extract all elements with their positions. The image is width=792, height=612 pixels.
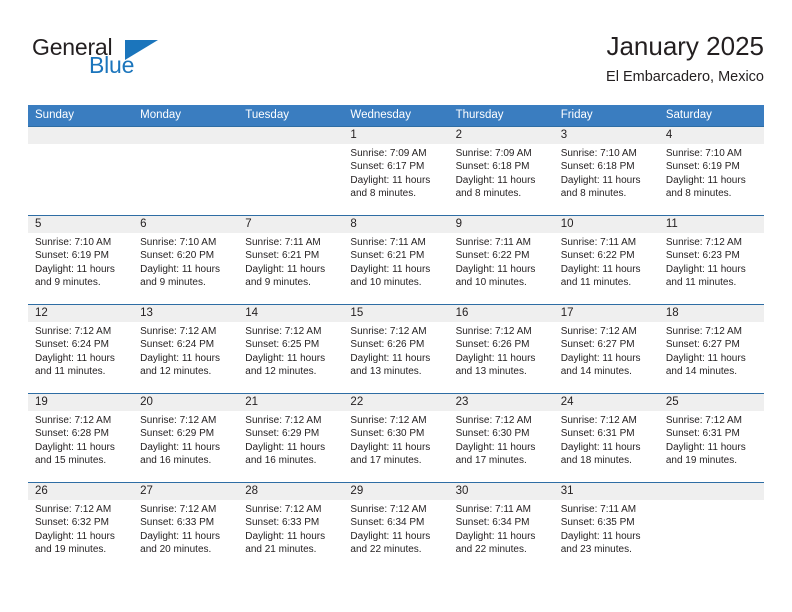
day-daylight-1-text: Daylight: 11 hours	[561, 441, 653, 454]
day-sunset-text: Sunset: 6:34 PM	[456, 516, 548, 529]
day-daylight-1-text: Daylight: 11 hours	[350, 352, 442, 365]
day-number: 24	[554, 394, 659, 411]
day-sun-info: Sunrise: 7:10 AMSunset: 6:18 PMDaylight:…	[554, 144, 659, 201]
day-sunset-text: Sunset: 6:33 PM	[140, 516, 232, 529]
day-daylight-2-text: and 11 minutes.	[561, 276, 653, 289]
day-sunrise-text: Sunrise: 7:12 AM	[245, 414, 337, 427]
day-cell[interactable]: 5Sunrise: 7:10 AMSunset: 6:19 PMDaylight…	[28, 216, 133, 304]
day-sunrise-text: Sunrise: 7:09 AM	[456, 147, 548, 160]
day-sunrise-text: Sunrise: 7:12 AM	[666, 325, 758, 338]
weekday-header-sunday: Sunday	[28, 105, 133, 126]
page-header: General Blue January 2025 El Embarcadero…	[28, 30, 764, 96]
day-daylight-2-text: and 20 minutes.	[140, 543, 232, 556]
day-cell-empty	[659, 483, 764, 571]
day-daylight-1-text: Daylight: 11 hours	[35, 263, 127, 276]
day-sun-info: Sunrise: 7:12 AMSunset: 6:29 PMDaylight:…	[238, 411, 343, 468]
day-number	[238, 127, 343, 144]
day-cell[interactable]: 2Sunrise: 7:09 AMSunset: 6:18 PMDaylight…	[449, 127, 554, 215]
day-daylight-2-text: and 9 minutes.	[245, 276, 337, 289]
day-daylight-1-text: Daylight: 11 hours	[245, 530, 337, 543]
day-sunset-text: Sunset: 6:31 PM	[561, 427, 653, 440]
day-sun-info: Sunrise: 7:12 AMSunset: 6:26 PMDaylight:…	[343, 322, 448, 379]
day-daylight-1-text: Daylight: 11 hours	[666, 441, 758, 454]
day-sunset-text: Sunset: 6:20 PM	[140, 249, 232, 262]
day-sun-info: Sunrise: 7:09 AMSunset: 6:18 PMDaylight:…	[449, 144, 554, 201]
day-sunset-text: Sunset: 6:28 PM	[35, 427, 127, 440]
day-sunset-text: Sunset: 6:19 PM	[35, 249, 127, 262]
day-daylight-1-text: Daylight: 11 hours	[561, 263, 653, 276]
day-number: 30	[449, 483, 554, 500]
weekday-header-thursday: Thursday	[449, 105, 554, 126]
day-number: 21	[238, 394, 343, 411]
day-daylight-1-text: Daylight: 11 hours	[245, 263, 337, 276]
day-sunset-text: Sunset: 6:31 PM	[666, 427, 758, 440]
day-daylight-2-text: and 16 minutes.	[140, 454, 232, 467]
day-cell[interactable]: 19Sunrise: 7:12 AMSunset: 6:28 PMDayligh…	[28, 394, 133, 482]
day-sunset-text: Sunset: 6:29 PM	[140, 427, 232, 440]
day-sunrise-text: Sunrise: 7:12 AM	[35, 503, 127, 516]
day-sunset-text: Sunset: 6:24 PM	[140, 338, 232, 351]
day-cell[interactable]: 11Sunrise: 7:12 AMSunset: 6:23 PMDayligh…	[659, 216, 764, 304]
day-daylight-2-text: and 10 minutes.	[350, 276, 442, 289]
day-sun-info: Sunrise: 7:12 AMSunset: 6:30 PMDaylight:…	[343, 411, 448, 468]
day-daylight-2-text: and 8 minutes.	[456, 187, 548, 200]
day-sunrise-text: Sunrise: 7:12 AM	[666, 414, 758, 427]
day-sunset-text: Sunset: 6:26 PM	[456, 338, 548, 351]
day-cell[interactable]: 25Sunrise: 7:12 AMSunset: 6:31 PMDayligh…	[659, 394, 764, 482]
day-cell[interactable]: 30Sunrise: 7:11 AMSunset: 6:34 PMDayligh…	[449, 483, 554, 571]
day-sunrise-text: Sunrise: 7:10 AM	[561, 147, 653, 160]
day-daylight-2-text: and 12 minutes.	[245, 365, 337, 378]
day-daylight-1-text: Daylight: 11 hours	[666, 352, 758, 365]
day-sunrise-text: Sunrise: 7:09 AM	[350, 147, 442, 160]
day-sun-info: Sunrise: 7:12 AMSunset: 6:33 PMDaylight:…	[133, 500, 238, 557]
day-number	[659, 483, 764, 500]
day-number	[133, 127, 238, 144]
day-sun-info: Sunrise: 7:10 AMSunset: 6:19 PMDaylight:…	[28, 233, 133, 290]
day-daylight-1-text: Daylight: 11 hours	[350, 263, 442, 276]
day-daylight-2-text: and 9 minutes.	[35, 276, 127, 289]
day-sunrise-text: Sunrise: 7:12 AM	[350, 325, 442, 338]
day-cell[interactable]: 20Sunrise: 7:12 AMSunset: 6:29 PMDayligh…	[133, 394, 238, 482]
day-daylight-1-text: Daylight: 11 hours	[456, 352, 548, 365]
day-sun-info: Sunrise: 7:11 AMSunset: 6:35 PMDaylight:…	[554, 500, 659, 557]
day-sunrise-text: Sunrise: 7:12 AM	[456, 414, 548, 427]
day-sun-info: Sunrise: 7:10 AMSunset: 6:20 PMDaylight:…	[133, 233, 238, 290]
day-sunrise-text: Sunrise: 7:12 AM	[35, 414, 127, 427]
day-number: 7	[238, 216, 343, 233]
page-subtitle: El Embarcadero, Mexico	[606, 67, 764, 87]
day-sunset-text: Sunset: 6:18 PM	[456, 160, 548, 173]
calendar-weeks: 1Sunrise: 7:09 AMSunset: 6:17 PMDaylight…	[28, 126, 764, 571]
day-cell[interactable]: 14Sunrise: 7:12 AMSunset: 6:25 PMDayligh…	[238, 305, 343, 393]
day-daylight-1-text: Daylight: 11 hours	[561, 174, 653, 187]
day-sunrise-text: Sunrise: 7:11 AM	[245, 236, 337, 249]
day-sun-info: Sunrise: 7:12 AMSunset: 6:34 PMDaylight:…	[343, 500, 448, 557]
day-daylight-2-text: and 10 minutes.	[456, 276, 548, 289]
day-cell[interactable]: 17Sunrise: 7:12 AMSunset: 6:27 PMDayligh…	[554, 305, 659, 393]
day-daylight-1-text: Daylight: 11 hours	[561, 352, 653, 365]
day-cell[interactable]: 6Sunrise: 7:10 AMSunset: 6:20 PMDaylight…	[133, 216, 238, 304]
day-cell[interactable]: 24Sunrise: 7:12 AMSunset: 6:31 PMDayligh…	[554, 394, 659, 482]
page-title: January 2025	[606, 30, 764, 62]
day-number: 2	[449, 127, 554, 144]
day-daylight-1-text: Daylight: 11 hours	[35, 530, 127, 543]
day-daylight-1-text: Daylight: 11 hours	[456, 174, 548, 187]
day-sunset-text: Sunset: 6:35 PM	[561, 516, 653, 529]
day-sunset-text: Sunset: 6:26 PM	[350, 338, 442, 351]
day-sunset-text: Sunset: 6:34 PM	[350, 516, 442, 529]
day-daylight-2-text: and 15 minutes.	[35, 454, 127, 467]
day-number: 3	[554, 127, 659, 144]
day-sunset-text: Sunset: 6:29 PM	[245, 427, 337, 440]
day-cell[interactable]: 16Sunrise: 7:12 AMSunset: 6:26 PMDayligh…	[449, 305, 554, 393]
day-daylight-2-text: and 19 minutes.	[35, 543, 127, 556]
day-number: 25	[659, 394, 764, 411]
day-cell[interactable]: 4Sunrise: 7:10 AMSunset: 6:19 PMDaylight…	[659, 127, 764, 215]
day-sunrise-text: Sunrise: 7:12 AM	[245, 325, 337, 338]
day-number: 15	[343, 305, 448, 322]
day-sunset-text: Sunset: 6:30 PM	[350, 427, 442, 440]
day-cell-empty	[28, 127, 133, 215]
day-sunset-text: Sunset: 6:21 PM	[245, 249, 337, 262]
day-sunset-text: Sunset: 6:23 PM	[666, 249, 758, 262]
day-cell[interactable]: 29Sunrise: 7:12 AMSunset: 6:34 PMDayligh…	[343, 483, 448, 571]
weekday-header-tuesday: Tuesday	[238, 105, 343, 126]
day-sunrise-text: Sunrise: 7:11 AM	[561, 236, 653, 249]
day-cell[interactable]: 8Sunrise: 7:11 AMSunset: 6:21 PMDaylight…	[343, 216, 448, 304]
day-number: 31	[554, 483, 659, 500]
day-daylight-1-text: Daylight: 11 hours	[245, 352, 337, 365]
day-number: 5	[28, 216, 133, 233]
day-daylight-2-text: and 23 minutes.	[561, 543, 653, 556]
day-number: 14	[238, 305, 343, 322]
day-cell[interactable]: 22Sunrise: 7:12 AMSunset: 6:30 PMDayligh…	[343, 394, 448, 482]
day-number: 26	[28, 483, 133, 500]
weekday-header-monday: Monday	[133, 105, 238, 126]
day-number: 19	[28, 394, 133, 411]
day-sunset-text: Sunset: 6:33 PM	[245, 516, 337, 529]
day-sunrise-text: Sunrise: 7:10 AM	[666, 147, 758, 160]
day-number: 27	[133, 483, 238, 500]
day-daylight-2-text: and 18 minutes.	[561, 454, 653, 467]
day-sunrise-text: Sunrise: 7:12 AM	[245, 503, 337, 516]
day-sunset-text: Sunset: 6:19 PM	[666, 160, 758, 173]
title-block: January 2025 El Embarcadero, Mexico	[606, 30, 764, 87]
day-daylight-2-text: and 12 minutes.	[140, 365, 232, 378]
day-number: 1	[343, 127, 448, 144]
calendar-week-row: 5Sunrise: 7:10 AMSunset: 6:19 PMDaylight…	[28, 215, 764, 304]
day-cell-empty	[238, 127, 343, 215]
day-daylight-1-text: Daylight: 11 hours	[350, 174, 442, 187]
day-sun-info: Sunrise: 7:11 AMSunset: 6:22 PMDaylight:…	[554, 233, 659, 290]
day-sunset-text: Sunset: 6:22 PM	[456, 249, 548, 262]
day-sun-info: Sunrise: 7:12 AMSunset: 6:26 PMDaylight:…	[449, 322, 554, 379]
day-sunset-text: Sunset: 6:18 PM	[561, 160, 653, 173]
day-sunrise-text: Sunrise: 7:11 AM	[456, 236, 548, 249]
day-cell[interactable]: 23Sunrise: 7:12 AMSunset: 6:30 PMDayligh…	[449, 394, 554, 482]
day-sunrise-text: Sunrise: 7:12 AM	[140, 325, 232, 338]
day-cell[interactable]: 31Sunrise: 7:11 AMSunset: 6:35 PMDayligh…	[554, 483, 659, 571]
day-number: 17	[554, 305, 659, 322]
day-sunrise-text: Sunrise: 7:12 AM	[666, 236, 758, 249]
day-daylight-2-text: and 14 minutes.	[666, 365, 758, 378]
day-cell[interactable]: 15Sunrise: 7:12 AMSunset: 6:26 PMDayligh…	[343, 305, 448, 393]
brand-name-blue: Blue	[89, 52, 134, 78]
day-sun-info: Sunrise: 7:10 AMSunset: 6:19 PMDaylight:…	[659, 144, 764, 201]
day-daylight-1-text: Daylight: 11 hours	[350, 441, 442, 454]
day-sunrise-text: Sunrise: 7:12 AM	[350, 503, 442, 516]
day-number: 29	[343, 483, 448, 500]
day-daylight-1-text: Daylight: 11 hours	[456, 441, 548, 454]
day-sun-info: Sunrise: 7:12 AMSunset: 6:23 PMDaylight:…	[659, 233, 764, 290]
day-sun-info: Sunrise: 7:11 AMSunset: 6:22 PMDaylight:…	[449, 233, 554, 290]
day-daylight-2-text: and 17 minutes.	[350, 454, 442, 467]
day-daylight-2-text: and 11 minutes.	[35, 365, 127, 378]
day-number: 16	[449, 305, 554, 322]
day-sun-info: Sunrise: 7:11 AMSunset: 6:34 PMDaylight:…	[449, 500, 554, 557]
day-daylight-1-text: Daylight: 11 hours	[35, 441, 127, 454]
day-daylight-1-text: Daylight: 11 hours	[35, 352, 127, 365]
day-sunset-text: Sunset: 6:32 PM	[35, 516, 127, 529]
day-cell[interactable]: 9Sunrise: 7:11 AMSunset: 6:22 PMDaylight…	[449, 216, 554, 304]
day-sun-info: Sunrise: 7:11 AMSunset: 6:21 PMDaylight:…	[238, 233, 343, 290]
day-daylight-2-text: and 21 minutes.	[245, 543, 337, 556]
weekday-header-saturday: Saturday	[659, 105, 764, 126]
day-daylight-2-text: and 16 minutes.	[245, 454, 337, 467]
day-cell[interactable]: 28Sunrise: 7:12 AMSunset: 6:33 PMDayligh…	[238, 483, 343, 571]
day-daylight-1-text: Daylight: 11 hours	[140, 352, 232, 365]
day-daylight-2-text: and 22 minutes.	[456, 543, 548, 556]
day-sunset-text: Sunset: 6:30 PM	[456, 427, 548, 440]
day-cell-empty	[133, 127, 238, 215]
day-number: 9	[449, 216, 554, 233]
day-daylight-1-text: Daylight: 11 hours	[350, 530, 442, 543]
day-sunrise-text: Sunrise: 7:12 AM	[456, 325, 548, 338]
day-sunrise-text: Sunrise: 7:11 AM	[350, 236, 442, 249]
weekday-header-wednesday: Wednesday	[343, 105, 448, 126]
day-number: 13	[133, 305, 238, 322]
brand-logo[interactable]: General Blue	[28, 34, 248, 90]
day-daylight-1-text: Daylight: 11 hours	[140, 441, 232, 454]
day-daylight-1-text: Daylight: 11 hours	[666, 263, 758, 276]
day-sunset-text: Sunset: 6:27 PM	[666, 338, 758, 351]
day-sunrise-text: Sunrise: 7:11 AM	[561, 503, 653, 516]
day-cell[interactable]: 10Sunrise: 7:11 AMSunset: 6:22 PMDayligh…	[554, 216, 659, 304]
day-sun-info: Sunrise: 7:09 AMSunset: 6:17 PMDaylight:…	[343, 144, 448, 201]
day-number: 22	[343, 394, 448, 411]
day-sun-info: Sunrise: 7:11 AMSunset: 6:21 PMDaylight:…	[343, 233, 448, 290]
day-sunrise-text: Sunrise: 7:12 AM	[350, 414, 442, 427]
day-cell[interactable]: 26Sunrise: 7:12 AMSunset: 6:32 PMDayligh…	[28, 483, 133, 571]
day-number: 6	[133, 216, 238, 233]
day-daylight-1-text: Daylight: 11 hours	[140, 263, 232, 276]
day-daylight-2-text: and 13 minutes.	[350, 365, 442, 378]
day-number: 8	[343, 216, 448, 233]
day-sun-info: Sunrise: 7:12 AMSunset: 6:30 PMDaylight:…	[449, 411, 554, 468]
day-number: 4	[659, 127, 764, 144]
day-daylight-2-text: and 19 minutes.	[666, 454, 758, 467]
day-sun-info: Sunrise: 7:12 AMSunset: 6:33 PMDaylight:…	[238, 500, 343, 557]
day-cell[interactable]: 21Sunrise: 7:12 AMSunset: 6:29 PMDayligh…	[238, 394, 343, 482]
day-daylight-2-text: and 8 minutes.	[350, 187, 442, 200]
day-number	[28, 127, 133, 144]
day-cell[interactable]: 18Sunrise: 7:12 AMSunset: 6:27 PMDayligh…	[659, 305, 764, 393]
day-sunset-text: Sunset: 6:17 PM	[350, 160, 442, 173]
day-sun-info: Sunrise: 7:12 AMSunset: 6:27 PMDaylight:…	[554, 322, 659, 379]
day-sunset-text: Sunset: 6:27 PM	[561, 338, 653, 351]
calendar-week-row: 1Sunrise: 7:09 AMSunset: 6:17 PMDaylight…	[28, 126, 764, 215]
day-number: 10	[554, 216, 659, 233]
day-sun-info: Sunrise: 7:12 AMSunset: 6:24 PMDaylight:…	[133, 322, 238, 379]
day-sunset-text: Sunset: 6:24 PM	[35, 338, 127, 351]
day-sun-info: Sunrise: 7:12 AMSunset: 6:27 PMDaylight:…	[659, 322, 764, 379]
day-sun-info: Sunrise: 7:12 AMSunset: 6:31 PMDaylight:…	[659, 411, 764, 468]
day-cell[interactable]: 12Sunrise: 7:12 AMSunset: 6:24 PMDayligh…	[28, 305, 133, 393]
day-daylight-2-text: and 11 minutes.	[666, 276, 758, 289]
calendar-week-row: 12Sunrise: 7:12 AMSunset: 6:24 PMDayligh…	[28, 304, 764, 393]
day-daylight-1-text: Daylight: 11 hours	[140, 530, 232, 543]
day-number: 12	[28, 305, 133, 322]
day-daylight-2-text: and 17 minutes.	[456, 454, 548, 467]
day-sunrise-text: Sunrise: 7:12 AM	[561, 325, 653, 338]
day-number: 28	[238, 483, 343, 500]
day-daylight-2-text: and 8 minutes.	[666, 187, 758, 200]
day-cell[interactable]: 1Sunrise: 7:09 AMSunset: 6:17 PMDaylight…	[343, 127, 448, 215]
day-number: 23	[449, 394, 554, 411]
day-cell[interactable]: 7Sunrise: 7:11 AMSunset: 6:21 PMDaylight…	[238, 216, 343, 304]
day-daylight-2-text: and 13 minutes.	[456, 365, 548, 378]
calendar-page: General Blue January 2025 El Embarcadero…	[0, 0, 792, 612]
day-number: 18	[659, 305, 764, 322]
day-cell[interactable]: 3Sunrise: 7:10 AMSunset: 6:18 PMDaylight…	[554, 127, 659, 215]
day-sun-info: Sunrise: 7:12 AMSunset: 6:31 PMDaylight:…	[554, 411, 659, 468]
day-sunset-text: Sunset: 6:25 PM	[245, 338, 337, 351]
day-sunrise-text: Sunrise: 7:10 AM	[35, 236, 127, 249]
day-sun-info: Sunrise: 7:12 AMSunset: 6:28 PMDaylight:…	[28, 411, 133, 468]
day-daylight-2-text: and 14 minutes.	[561, 365, 653, 378]
day-daylight-1-text: Daylight: 11 hours	[666, 174, 758, 187]
day-sunset-text: Sunset: 6:22 PM	[561, 249, 653, 262]
day-sunrise-text: Sunrise: 7:12 AM	[561, 414, 653, 427]
day-daylight-2-text: and 9 minutes.	[140, 276, 232, 289]
calendar-grid: SundayMondayTuesdayWednesdayThursdayFrid…	[28, 105, 764, 571]
day-sunset-text: Sunset: 6:21 PM	[350, 249, 442, 262]
day-number: 20	[133, 394, 238, 411]
day-sunrise-text: Sunrise: 7:11 AM	[456, 503, 548, 516]
day-daylight-1-text: Daylight: 11 hours	[456, 263, 548, 276]
day-daylight-1-text: Daylight: 11 hours	[561, 530, 653, 543]
day-daylight-1-text: Daylight: 11 hours	[245, 441, 337, 454]
day-sun-info: Sunrise: 7:12 AMSunset: 6:24 PMDaylight:…	[28, 322, 133, 379]
weekday-header-friday: Friday	[554, 105, 659, 126]
calendar-week-row: 26Sunrise: 7:12 AMSunset: 6:32 PMDayligh…	[28, 482, 764, 571]
day-sun-info: Sunrise: 7:12 AMSunset: 6:32 PMDaylight:…	[28, 500, 133, 557]
day-sunrise-text: Sunrise: 7:12 AM	[140, 414, 232, 427]
day-sun-info: Sunrise: 7:12 AMSunset: 6:25 PMDaylight:…	[238, 322, 343, 379]
day-cell[interactable]: 27Sunrise: 7:12 AMSunset: 6:33 PMDayligh…	[133, 483, 238, 571]
day-sun-info: Sunrise: 7:12 AMSunset: 6:29 PMDaylight:…	[133, 411, 238, 468]
weekday-header-row: SundayMondayTuesdayWednesdayThursdayFrid…	[28, 105, 764, 126]
day-sunrise-text: Sunrise: 7:10 AM	[140, 236, 232, 249]
day-sunrise-text: Sunrise: 7:12 AM	[140, 503, 232, 516]
day-cell[interactable]: 13Sunrise: 7:12 AMSunset: 6:24 PMDayligh…	[133, 305, 238, 393]
day-number: 11	[659, 216, 764, 233]
day-daylight-2-text: and 22 minutes.	[350, 543, 442, 556]
day-daylight-1-text: Daylight: 11 hours	[456, 530, 548, 543]
day-sunrise-text: Sunrise: 7:12 AM	[35, 325, 127, 338]
calendar-week-row: 19Sunrise: 7:12 AMSunset: 6:28 PMDayligh…	[28, 393, 764, 482]
day-daylight-2-text: and 8 minutes.	[561, 187, 653, 200]
